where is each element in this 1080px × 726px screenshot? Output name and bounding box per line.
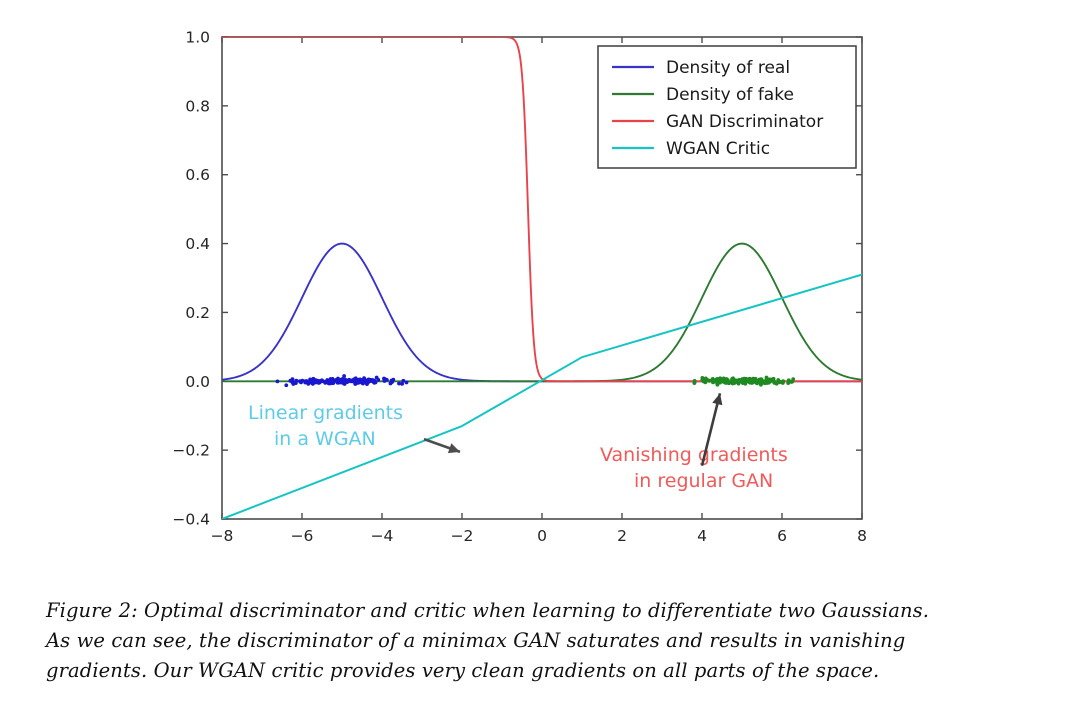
matplotlib-plot: −8−6−4−202468−0.4−0.20.00.20.40.60.81.0 … (0, 0, 1080, 560)
y-tick-label: 0.2 (185, 304, 210, 322)
caption-line-2: As we can see, the discriminator of a mi… (46, 626, 1046, 656)
y-tick-label: −0.2 (172, 442, 210, 460)
y-tick-label: 0.6 (185, 166, 210, 184)
plot-background (0, 0, 1080, 560)
figure-panel: −8−6−4−202468−0.4−0.20.00.20.40.60.81.0 … (0, 0, 1080, 560)
figure-caption: Figure 2: Optimal discriminator and crit… (46, 596, 1046, 686)
y-tick-label: 0.8 (185, 97, 210, 115)
x-tick-label: −6 (291, 527, 314, 545)
caption-line-1: Figure 2: Optimal discriminator and crit… (46, 596, 1046, 626)
x-tick-label: 6 (777, 527, 787, 545)
y-tick-label: 0.4 (185, 235, 210, 253)
chart-legend: Density of realDensity of fakeGAN Discri… (598, 46, 856, 168)
legend-label-density-of-fake: Density of fake (666, 85, 794, 105)
x-tick-label: 0 (537, 527, 547, 545)
gan-annotation-line-1: Vanishing gradients (600, 444, 788, 466)
legend-label-wgan-critic: WGAN Critic (666, 139, 770, 159)
caption-line-3: gradients. Our WGAN critic provides very… (46, 656, 1046, 686)
gan-annotation-line-2: in regular GAN (634, 470, 773, 492)
wgan-annotation-line-1: Linear gradients (248, 402, 403, 424)
x-tick-label: −2 (451, 527, 474, 545)
legend-label-density-of-real: Density of real (666, 58, 790, 78)
x-tick-label: 4 (697, 527, 707, 545)
y-tick-label: −0.4 (172, 511, 210, 529)
x-tick-label: 2 (617, 527, 627, 545)
y-tick-label: 1.0 (185, 29, 210, 47)
wgan-annotation-line-2: in a WGAN (274, 428, 376, 450)
legend-label-gan-discriminator: GAN Discriminator (666, 112, 823, 132)
x-tick-label: 8 (857, 527, 867, 545)
x-tick-label: −8 (211, 527, 234, 545)
x-tick-label: −4 (371, 527, 394, 545)
y-tick-label: 0.0 (185, 373, 210, 391)
